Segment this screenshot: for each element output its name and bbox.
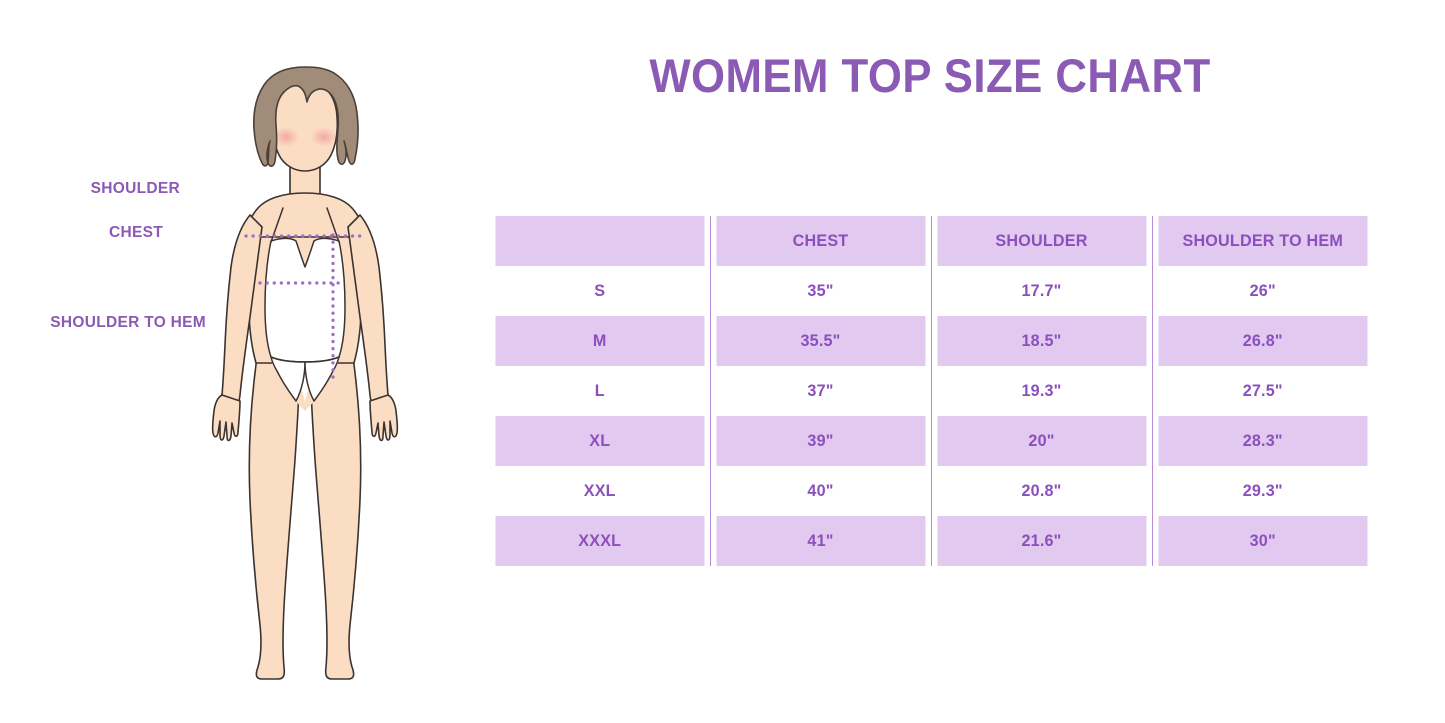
measurement-label-shoulder: SHOULDER (0, 180, 180, 198)
cell-shoulder-to-hem: 28.3" (1158, 416, 1368, 466)
column-header-size (496, 216, 705, 266)
cell-size: XXL (496, 466, 705, 516)
cell-size: XL (496, 416, 705, 466)
table-header-row: CHEST SHOULDER SHOULDER TO HEM (490, 216, 1373, 266)
female-body-figure-illustration (150, 45, 480, 685)
cell-chest: 40" (716, 466, 926, 516)
left-leg (249, 350, 300, 679)
cell-chest: 35.5" (716, 316, 926, 366)
page-title: WOMEM TOP SIZE CHART (512, 48, 1349, 103)
cell-chest: 39" (716, 416, 926, 466)
table-row: L 37" 19.3" 27.5" (490, 366, 1373, 416)
cell-shoulder: 21.6" (937, 516, 1147, 566)
right-cheek-blush (311, 127, 337, 147)
table-row: XXL 40" 20.8" 29.3" (490, 466, 1373, 516)
column-header-chest: CHEST (716, 216, 926, 266)
cell-size: M (496, 316, 705, 366)
table-row: M 35.5" 18.5" 26.8" (490, 316, 1373, 366)
cell-chest: 41" (716, 516, 926, 566)
cell-shoulder-to-hem: 26.8" (1158, 316, 1368, 366)
cell-size: S (496, 266, 705, 316)
cell-shoulder-to-hem: 29.3" (1158, 466, 1368, 516)
cell-chest: 37" (716, 366, 926, 416)
cell-shoulder-to-hem: 30" (1158, 516, 1368, 566)
measurement-label-chest: CHEST (0, 224, 163, 242)
cell-size: XXXL (496, 516, 705, 566)
cell-shoulder-to-hem: 26" (1158, 266, 1368, 316)
column-header-shoulder: SHOULDER (937, 216, 1147, 266)
cell-shoulder-to-hem: 27.5" (1158, 366, 1368, 416)
table-row: XL 39" 20" 28.3" (490, 416, 1373, 466)
figure-body (213, 81, 398, 679)
cell-size: L (496, 366, 705, 416)
cell-shoulder: 17.7" (937, 266, 1147, 316)
right-hand (370, 395, 397, 441)
size-chart-table: CHEST SHOULDER SHOULDER TO HEM S 35" 17.… (490, 216, 1373, 566)
measurement-label-shoulder-to-hem: SHOULDER TO HEM (0, 314, 206, 332)
cell-chest: 35" (716, 266, 926, 316)
table-row: XXXL 41" 21.6" 30" (490, 516, 1373, 566)
left-hand (213, 395, 240, 441)
cell-shoulder: 20.8" (937, 466, 1147, 516)
cell-shoulder: 19.3" (937, 366, 1147, 416)
cell-shoulder: 18.5" (937, 316, 1147, 366)
right-leg (310, 350, 361, 679)
table-row: S 35" 17.7" 26" (490, 266, 1373, 316)
column-header-shoulder-to-hem: SHOULDER TO HEM (1158, 216, 1368, 266)
cell-shoulder: 20" (937, 416, 1147, 466)
